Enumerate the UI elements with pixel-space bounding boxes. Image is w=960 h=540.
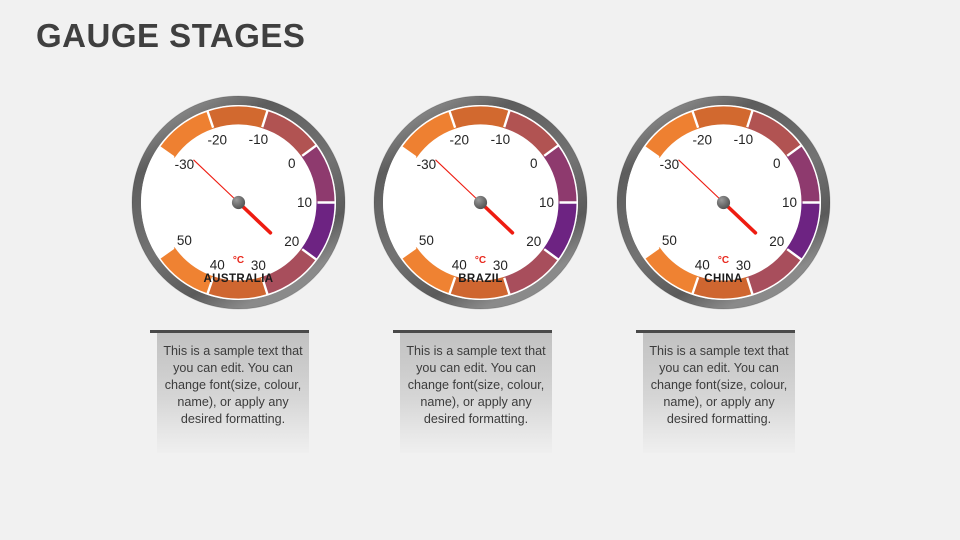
page-title: GAUGE STAGES	[36, 17, 305, 55]
svg-text:-20: -20	[208, 133, 228, 148]
gauge-dial: -30-20-1001020304050	[131, 95, 346, 310]
gauge-australia[interactable]: -30-20-1001020304050 °C AUSTRALIA	[131, 95, 346, 310]
svg-text:-10: -10	[249, 132, 269, 147]
svg-text:30: 30	[493, 258, 508, 273]
notes-row: This is a sample text that you can edit.…	[0, 330, 960, 480]
svg-text:-10: -10	[491, 132, 511, 147]
svg-text:30: 30	[251, 258, 266, 273]
svg-text:-10: -10	[734, 132, 754, 147]
svg-text:0: 0	[773, 156, 781, 171]
svg-text:20: 20	[526, 234, 541, 249]
svg-text:-20: -20	[693, 133, 713, 148]
svg-text:-20: -20	[450, 133, 470, 148]
note-text[interactable]: This is a sample text that you can edit.…	[157, 333, 309, 453]
svg-text:20: 20	[769, 234, 784, 249]
note-text[interactable]: This is a sample text that you can edit.…	[643, 333, 795, 453]
svg-text:20: 20	[284, 234, 299, 249]
gauge-brazil[interactable]: -30-20-1001020304050 °C BRAZIL	[373, 95, 588, 310]
note-text[interactable]: This is a sample text that you can edit.…	[400, 333, 552, 453]
note-brazil[interactable]: This is a sample text that you can edit.…	[393, 330, 552, 453]
note-australia[interactable]: This is a sample text that you can edit.…	[150, 330, 309, 453]
gauge-dial: -30-20-1001020304050	[616, 95, 831, 310]
note-china[interactable]: This is a sample text that you can edit.…	[636, 330, 795, 453]
svg-text:10: 10	[782, 195, 797, 210]
svg-text:50: 50	[662, 233, 677, 248]
gauges-row: -30-20-1001020304050 °C AUSTRALIA -30-20…	[0, 95, 960, 310]
svg-text:0: 0	[288, 156, 296, 171]
svg-text:30: 30	[736, 258, 751, 273]
svg-text:50: 50	[419, 233, 434, 248]
svg-text:0: 0	[530, 156, 538, 171]
gauge-china[interactable]: -30-20-1001020304050 °C CHINA	[616, 95, 831, 310]
svg-text:40: 40	[695, 258, 710, 273]
svg-text:40: 40	[210, 258, 225, 273]
svg-text:10: 10	[297, 195, 312, 210]
svg-text:50: 50	[177, 233, 192, 248]
svg-text:-30: -30	[417, 157, 437, 172]
svg-text:40: 40	[452, 258, 467, 273]
svg-text:-30: -30	[175, 157, 195, 172]
svg-text:10: 10	[539, 195, 554, 210]
svg-text:-30: -30	[660, 157, 680, 172]
gauge-dial: -30-20-1001020304050	[373, 95, 588, 310]
